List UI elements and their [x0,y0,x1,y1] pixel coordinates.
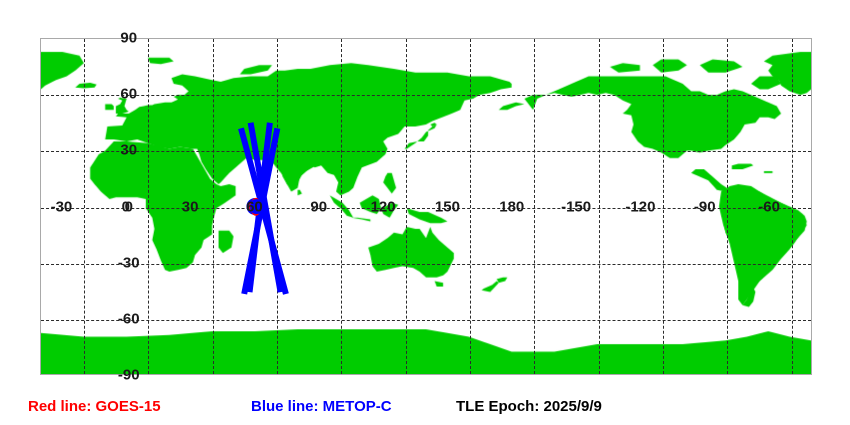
gridline-parallel [41,320,811,321]
lon-tick-label: 180 [499,199,524,214]
lon-tick-label: -90 [694,199,716,214]
lat-tick-label: 60 [120,87,137,102]
satellite-ground-track-map: -300306090120150180-150-120-90-609060300… [0,0,850,425]
lon-tick-label: -120 [625,199,655,214]
lon-tick-label: 150 [435,199,460,214]
lon-tick-label: -30 [51,199,73,214]
gridline-parallel [41,95,811,96]
gridline-meridian [277,39,278,374]
lat-tick-label: -90 [118,368,140,383]
lat-tick-label: 0 [125,199,133,214]
legend-blue-line-metopc: Blue line: METOP-C [251,399,392,414]
gridline-meridian [792,39,793,374]
legend-footer: Red line: GOES-15 Blue line: METOP-C TLE… [0,393,850,425]
gridline-meridian [148,39,149,374]
lon-tick-label: 90 [310,199,327,214]
lon-tick-label: -60 [758,199,780,214]
lat-tick-label: -30 [118,255,140,270]
gridline-meridian [84,39,85,374]
gridline-meridian [599,39,600,374]
legend-tle-epoch: TLE Epoch: 2025/9/9 [456,399,602,414]
lat-tick-label: -60 [118,311,140,326]
gridline-meridian [213,39,214,374]
gridline-parallel [41,264,811,265]
gridline-parallel [41,151,811,152]
lon-tick-label: 60 [246,199,263,214]
lat-tick-label: 30 [120,143,137,158]
gridline-meridian [406,39,407,374]
lat-tick-label: 90 [120,31,137,46]
lon-tick-label: -150 [561,199,591,214]
gridline-meridian [663,39,664,374]
legend-red-line-goes15: Red line: GOES-15 [28,399,161,414]
gridline-meridian [341,39,342,374]
lon-tick-label: 30 [182,199,199,214]
lon-tick-label: 120 [371,199,396,214]
gridline-meridian [470,39,471,374]
gridline-meridian [534,39,535,374]
gridline-meridian [727,39,728,374]
